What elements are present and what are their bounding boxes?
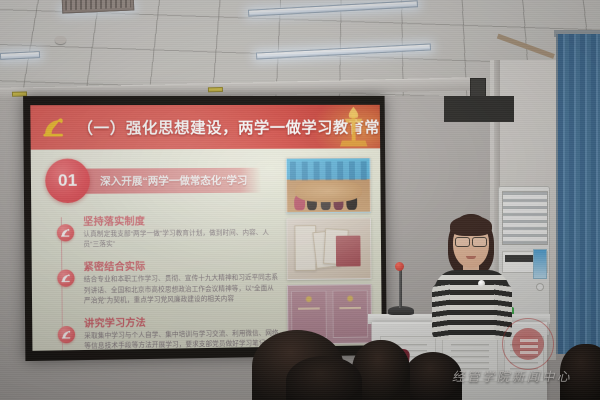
timeline-item-heading: 紧密结合实际 xyxy=(84,257,279,274)
blue-vertical-blinds xyxy=(556,34,600,354)
step-heading: 深入开展“两学一做常态化”学习 xyxy=(80,167,262,193)
timeline-item-content: 坚持落实制度 认真制定我支部“两学一做”学习教育计划，做到时间、内容、人员“三落… xyxy=(74,211,281,250)
step-number-badge: 01 xyxy=(45,159,90,204)
microphone-stem xyxy=(399,268,402,308)
meeting-room-photo xyxy=(286,157,371,213)
timeline-item-body: 结合专业和本职工作学习、贯彻、宣传十九大精神和习近平同志系列讲话、全国和北京市高… xyxy=(84,274,280,307)
screenshot-scene: （一）强化思想建设，两学一做学习教育常态化 01 xyxy=(0,0,600,400)
slide-left-column: 01 深入开展“两学一做常态化”学习 xyxy=(41,158,282,351)
microphone-head xyxy=(395,262,404,271)
slide-timeline: 坚持落实制度 认真制定我支部“两学一做”学习教育计划，做到时间、内容、人员“三落… xyxy=(41,211,281,350)
projection-screen-frame: （一）强化思想建设，两学一做学习教育常态化 01 xyxy=(23,96,387,361)
booklet-page-right xyxy=(332,290,369,338)
presentation-slide: （一）强化思想建设，两学一做学习教育常态化 01 xyxy=(30,105,382,351)
golden-torch-monument-icon xyxy=(337,107,371,149)
presenter-striped-sweater xyxy=(434,270,510,340)
timeline-item-content: 紧密结合实际 结合专业和本职工作学习、贯彻、宣传十九大精神和习近平同志系列讲话、… xyxy=(74,257,281,307)
audience-head xyxy=(286,356,362,400)
timeline-item-content: 讲究学习方法 采取集中学习与个人自学、集中培训与学习交流、利用微信、网络等信息技… xyxy=(75,312,282,351)
timeline-item-heading: 讲究学习方法 xyxy=(84,312,279,330)
timeline-item-body: 采取集中学习与个人自学、集中培训与学习交流、利用微信、网络等信息技术手段等方法开… xyxy=(84,329,280,351)
timeline-item: 讲究学习方法 采取集中学习与个人自学、集中培训与学习交流、利用微信、网络等信息技… xyxy=(46,312,281,351)
ac-energy-label xyxy=(533,249,547,279)
slide-body: 01 深入开展“两学一做常态化”学习 xyxy=(31,148,382,351)
smoke-detector-icon xyxy=(55,36,66,44)
timeline-item: 坚持落实制度 认真制定我支部“两学一做”学习教育计划，做到时间、内容、人员“三落… xyxy=(46,211,281,251)
speaker-cabinet xyxy=(444,96,514,122)
hammer-and-sickle-icon xyxy=(57,224,74,241)
timeline-item-body: 认真制定我支部“两学一做”学习教育计划，做到时间、内容、人员“三落实” xyxy=(83,228,278,250)
study-documents-photo xyxy=(286,218,371,280)
presenter-fringe xyxy=(450,216,492,236)
hammer-and-sickle-icon xyxy=(58,326,75,343)
slide-step-header: 01 深入开展“两学一做常态化”学习 xyxy=(45,158,280,203)
eyeglasses-icon xyxy=(455,237,487,245)
presenter-mouth xyxy=(466,256,476,259)
presenter xyxy=(428,214,514,336)
timeline-item: 紧密结合实际 结合专业和本职工作学习、贯彻、宣传十九大精神和习近平同志系列讲话、… xyxy=(46,257,281,308)
hammer-and-sickle-icon xyxy=(41,115,68,139)
projection-screen: （一）强化思想建设，两学一做学习教育常态化 01 xyxy=(30,105,382,351)
slide-photo-column xyxy=(280,157,372,351)
slide-title-banner: （一）强化思想建设，两学一做学习教育常态化 xyxy=(30,105,380,150)
watermark-text: 经管学院新闻中心 xyxy=(452,366,572,385)
hammer-and-sickle-icon xyxy=(57,270,74,287)
slide-title: （一）强化思想建设，两学一做学习教育常态化 xyxy=(77,116,380,139)
ac-power-button[interactable] xyxy=(536,283,544,291)
presenter-brooch xyxy=(478,280,485,287)
rail-label-tag xyxy=(208,87,223,92)
red-booklet xyxy=(336,235,361,266)
timeline-item-heading: 坚持落实制度 xyxy=(83,211,278,228)
circular-red-seal-icon xyxy=(502,318,554,370)
